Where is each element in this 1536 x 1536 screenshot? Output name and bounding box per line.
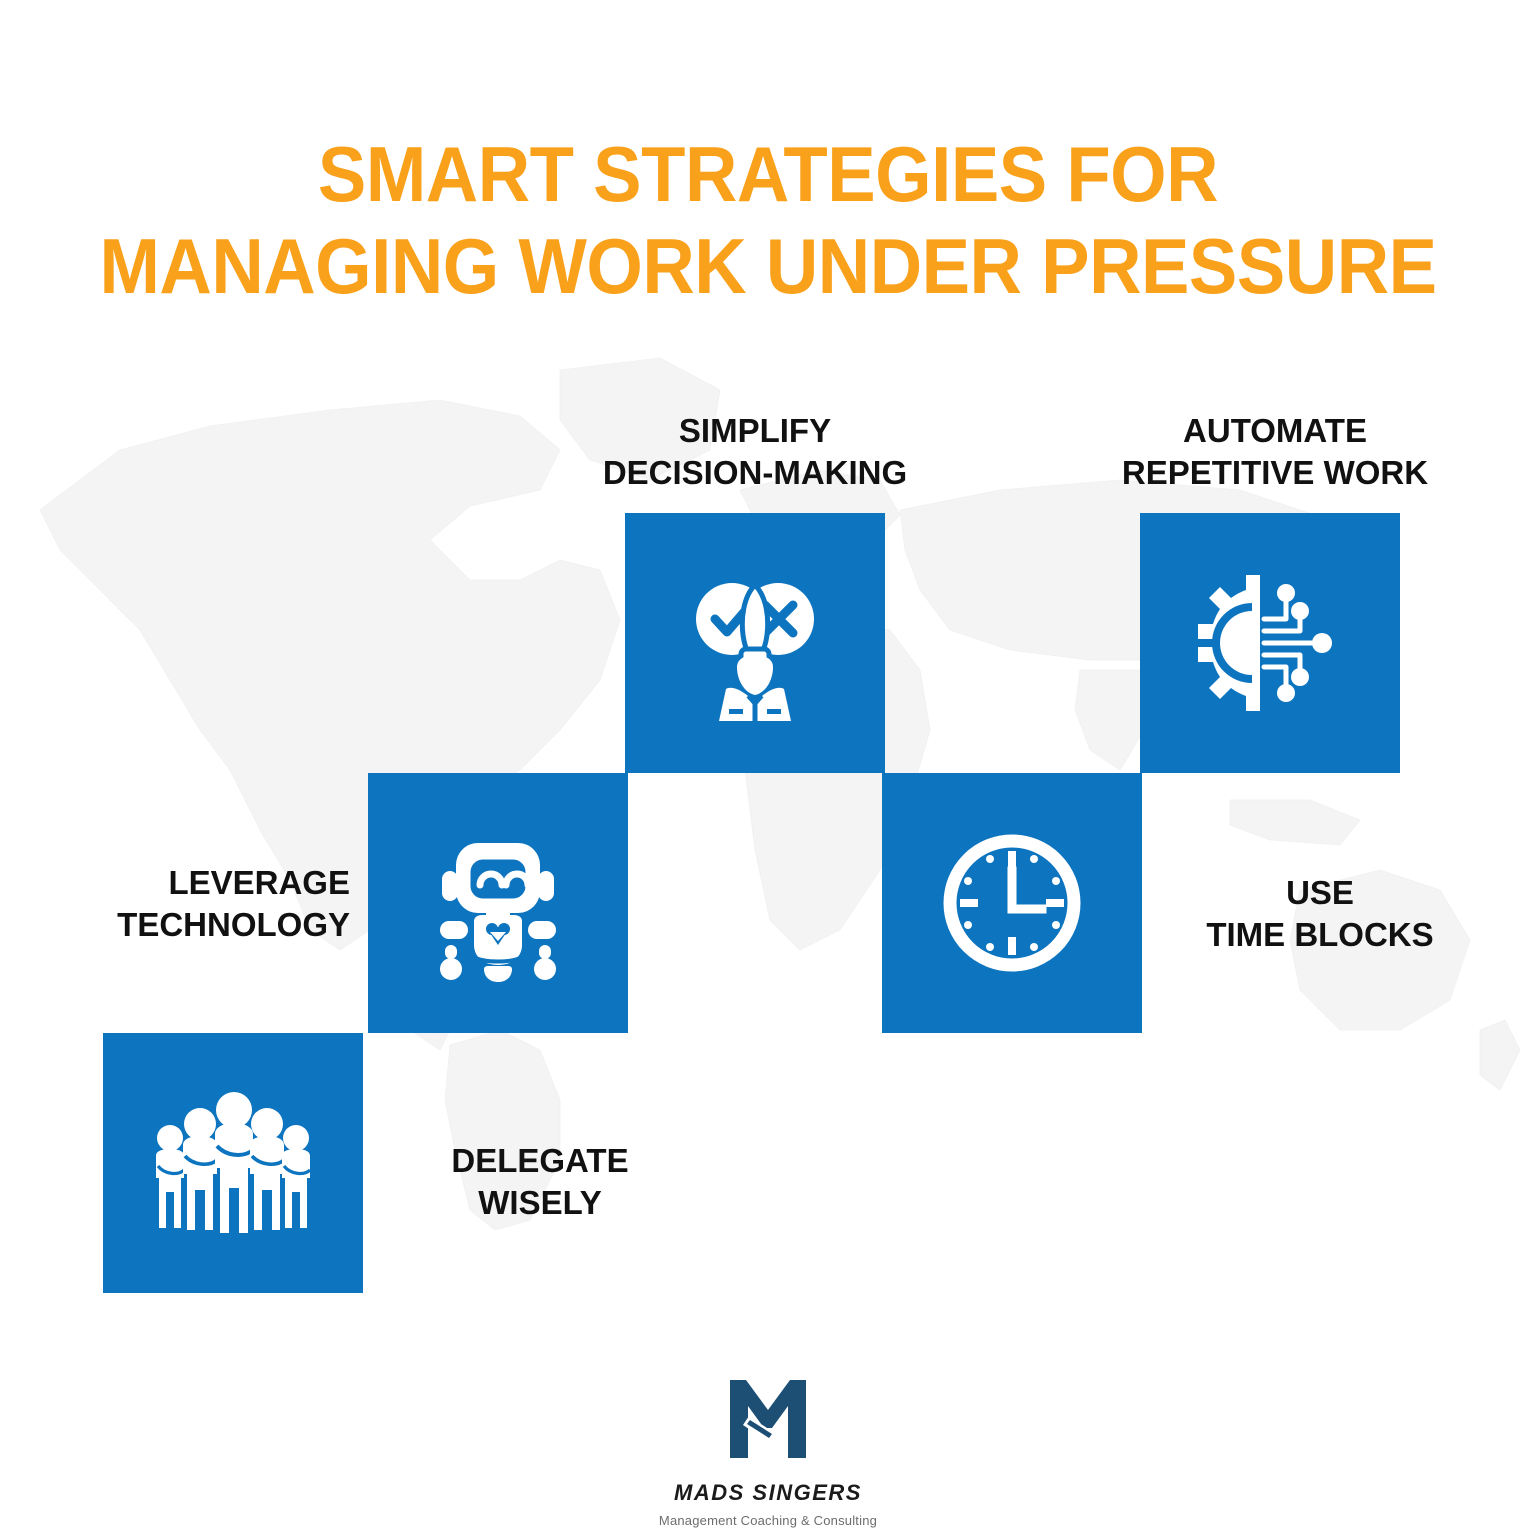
strategy-tile-automate [1140, 513, 1400, 773]
strategy-tile-delegate [103, 1033, 363, 1293]
gear-circuit-automation-icon [1190, 563, 1350, 723]
strategy-label-automate: AUTOMATE REPETITIVE WORK [1060, 410, 1490, 494]
decision-person-check-cross-icon [675, 563, 835, 723]
strategy-label-time-blocks: USE TIME BLOCKS [1160, 872, 1480, 956]
brand-logo: MADS SINGERS Management Coaching & Consu… [0, 1370, 1536, 1528]
page-title: SMART STRATEGIES FOR MANAGING WORK UNDER… [54, 128, 1482, 312]
strategy-label-leverage: LEVERAGE TECHNOLOGY [60, 862, 350, 946]
robot-icon [418, 823, 578, 983]
clock-icon [940, 831, 1084, 975]
m-monogram-logo-icon [720, 1370, 816, 1466]
strategy-tile-leverage [368, 773, 628, 1033]
strategy-label-simplify: SIMPLIFY DECISION-MAKING [545, 410, 965, 494]
strategy-tile-simplify [625, 513, 885, 773]
infographic-poster: SMART STRATEGIES FOR MANAGING WORK UNDER… [0, 0, 1536, 1536]
logo-brand-name: MADS SINGERS [674, 1480, 862, 1506]
logo-tagline: Management Coaching & Consulting [659, 1513, 877, 1528]
strategy-label-delegate: DELEGATE WISELY [385, 1140, 695, 1224]
strategy-tile-time-blocks [882, 773, 1142, 1033]
team-group-people-icon [148, 1088, 318, 1238]
